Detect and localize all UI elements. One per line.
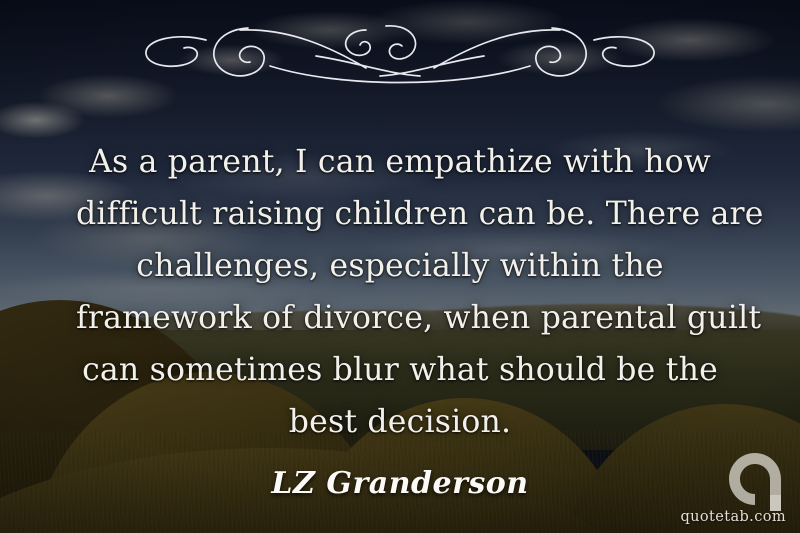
card-content: As a parent, I can empathize with how di… [0, 0, 800, 533]
quotetab-logo-icon[interactable] [724, 451, 786, 513]
watermark[interactable]: quotetab.com [654, 451, 786, 525]
quote-text: As a parent, I can empathize with how di… [76, 136, 724, 448]
quote-line: difficult raising children can be. There… [76, 188, 724, 240]
flourish-ornament-icon [120, 12, 680, 84]
quote-line: As a parent, I can empathize with how [76, 136, 724, 188]
quote-line: best decision. [76, 396, 724, 448]
quote-card: As a parent, I can empathize with how di… [0, 0, 800, 533]
quote-line: can sometimes blur what should be the [76, 344, 724, 396]
quote-line: framework of divorce, when parental guil… [76, 292, 724, 344]
quote-line: challenges, especially within the [76, 240, 724, 292]
